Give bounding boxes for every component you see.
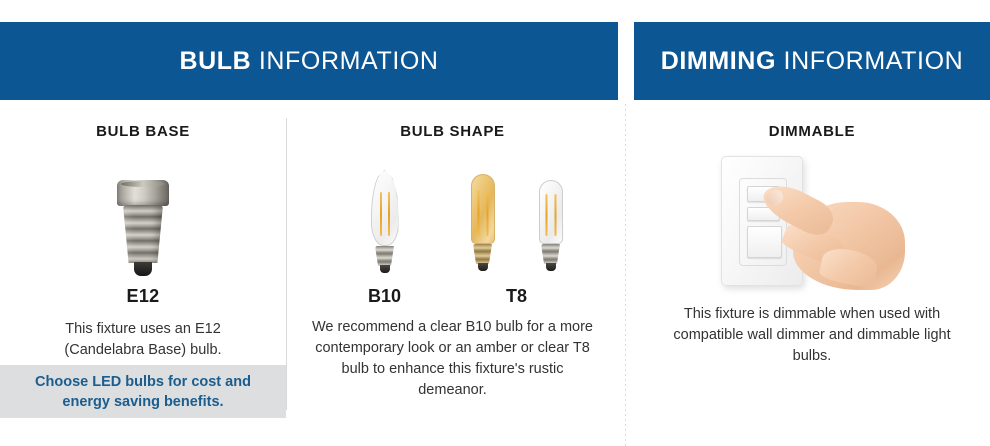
t8-amber-filament: [476, 190, 489, 236]
bulb-base-image: [0, 154, 286, 276]
bulb-information-title-bold: BULB: [179, 47, 251, 75]
dimmer-illustration: [707, 154, 917, 290]
bulb-shape-labels: B10 T8: [287, 286, 618, 307]
t8-amber-socket-tip: [478, 263, 488, 271]
bulb-shape-heading: BULB SHAPE: [287, 123, 618, 140]
bulb-base-description: This fixture uses an E12 (Candelabra Bas…: [27, 319, 259, 361]
dimming-information-title-bold: DIMMING: [661, 47, 776, 75]
e12-threads: [123, 205, 163, 263]
dimming-information-title-rest: INFORMATION: [776, 47, 963, 75]
t8-amber-bulb-icon: [461, 174, 505, 278]
t8-label: T8: [449, 286, 585, 307]
bulb-base-heading: BULB BASE: [0, 123, 286, 140]
bulb-shape-column: BULB SHAPE: [287, 118, 618, 401]
b10-filament: [379, 192, 391, 236]
led-callout-text: Choose LED bulbs for cost and energy sav…: [24, 372, 262, 412]
e12-collar: [117, 180, 169, 206]
b10-socket-tip: [380, 265, 390, 273]
dimmable-heading: DIMMABLE: [634, 123, 990, 140]
e12-contact-tip: [134, 262, 152, 276]
fingernail: [764, 187, 787, 209]
b10-socket: [375, 246, 394, 266]
bulb-shape-description: We recommend a clear B10 bulb for a more…: [307, 317, 599, 401]
bulb-info-panel: BULB INFORMATION DIMMING INFORMATION BUL…: [0, 0, 990, 446]
led-callout-box: Choose LED bulbs for cost and energy sav…: [0, 365, 286, 418]
dimming-information-title: DIMMING INFORMATION: [661, 47, 964, 76]
t8-clear-bulb-slot: [517, 180, 585, 278]
dimming-column: DIMMABLE: [634, 118, 990, 367]
t8-amber-bulb-slot: [449, 174, 517, 278]
t8-clear-filament: [544, 194, 557, 236]
bulb-information-header: BULB INFORMATION: [0, 22, 618, 100]
section-divider: [625, 104, 626, 446]
bulb-base-model-label: E12: [0, 286, 286, 307]
e12-socket-icon: [115, 180, 171, 276]
t8-clear-bulb-icon: [529, 180, 573, 278]
dimmer-switch-image: [634, 154, 990, 290]
dimming-description: This fixture is dimmable when used with …: [669, 304, 955, 367]
t8-clear-socket: [541, 244, 560, 264]
b10-bulb-slot: [321, 170, 449, 278]
bulb-shape-images: [287, 150, 618, 278]
b10-bulb-icon: [362, 170, 408, 278]
t8-amber-socket: [473, 244, 492, 264]
dimming-information-header: DIMMING INFORMATION: [634, 22, 990, 100]
bulb-information-title: BULB INFORMATION: [179, 47, 438, 76]
bulb-information-title-rest: INFORMATION: [251, 47, 438, 75]
t8-clear-socket-tip: [546, 263, 556, 271]
bulb-base-column: BULB BASE E12 This fixture uses an E12 (…: [0, 118, 286, 361]
hand-icon: [759, 184, 909, 290]
b10-label: B10: [321, 286, 449, 307]
